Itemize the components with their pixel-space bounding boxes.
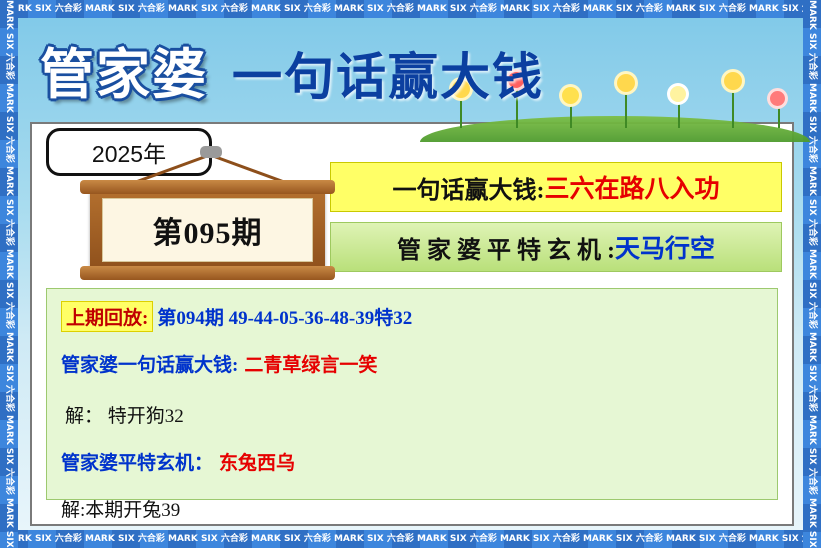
border-bottom-text: MARK SIX 六合彩 MARK SIX 六合彩 MARK SIX 六合彩 M… [0, 530, 821, 548]
replay-numbers: 第094期 49-44-05-36-48-39特32 [157, 303, 412, 330]
xuanji-line-label: 管家婆平特玄机： [61, 448, 213, 475]
issue-number: 第095期 [153, 208, 263, 252]
flower-icon [562, 87, 579, 104]
brand-title: 管家婆 [40, 30, 208, 109]
flower-icon [670, 86, 686, 102]
headline-slogan-value: 三六在路八入功 [544, 169, 719, 205]
headline-xuanji-label: 管 家 婆 平 特 玄 机 : [397, 230, 615, 265]
page-title: 管家婆 一句话赢大钱 [40, 30, 544, 109]
headline-row-slogan: 一句话赢大钱: 三六在路八入功 [330, 162, 782, 212]
xuanji-explain: 解:本期开兔39 [61, 495, 777, 522]
slogan-line-value: 二青草绿言一笑 [244, 350, 377, 377]
border-left: MARK SIX 六合彩 MARK SIX 六合彩 MARK SIX 六合彩 M… [0, 0, 18, 548]
headline-xuanji-value: 天马行空 [615, 229, 715, 265]
border-top: MARK SIX 六合彩 MARK SIX 六合彩 MARK SIX 六合彩 M… [0, 0, 821, 18]
replay-label: 上期回放: [61, 301, 153, 332]
slogan-title: 一句话赢大钱 [232, 37, 544, 109]
border-bottom: MARK SIX 六合彩 MARK SIX 六合彩 MARK SIX 六合彩 M… [0, 530, 821, 548]
flower-icon [617, 74, 635, 92]
xuanji-line-value: 东兔西乌 [219, 448, 295, 475]
content-box: 上期回放: 第094期 49-44-05-36-48-39特32 管家婆一句话赢… [46, 288, 778, 500]
slogan-line: 管家婆一句话赢大钱: 二青草绿言一笑 [61, 350, 777, 377]
headline-row-xuanji: 管 家 婆 平 特 玄 机 : 天马行空 [330, 222, 782, 272]
xuanji-line: 管家婆平特玄机： 东兔西乌 [61, 448, 777, 475]
flower-icon [770, 91, 785, 106]
sign-inner: 第095期 [102, 198, 313, 262]
slogan-line-label: 管家婆一句话赢大钱: [61, 350, 238, 377]
border-top-text: MARK SIX 六合彩 MARK SIX 六合彩 MARK SIX 六合彩 M… [0, 0, 821, 18]
issue-sign: 第095期 [90, 186, 325, 274]
slogan-explain: 解： 特开狗32 [65, 401, 777, 428]
grass-icon [420, 116, 810, 142]
border-left-text: MARK SIX 六合彩 MARK SIX 六合彩 MARK SIX 六合彩 M… [0, 0, 18, 548]
flower-icon [724, 72, 742, 90]
sign-hanger [200, 146, 222, 158]
replay-line: 上期回放: 第094期 49-44-05-36-48-39特32 [61, 301, 777, 332]
headline-slogan-label: 一句话赢大钱: [392, 170, 544, 205]
